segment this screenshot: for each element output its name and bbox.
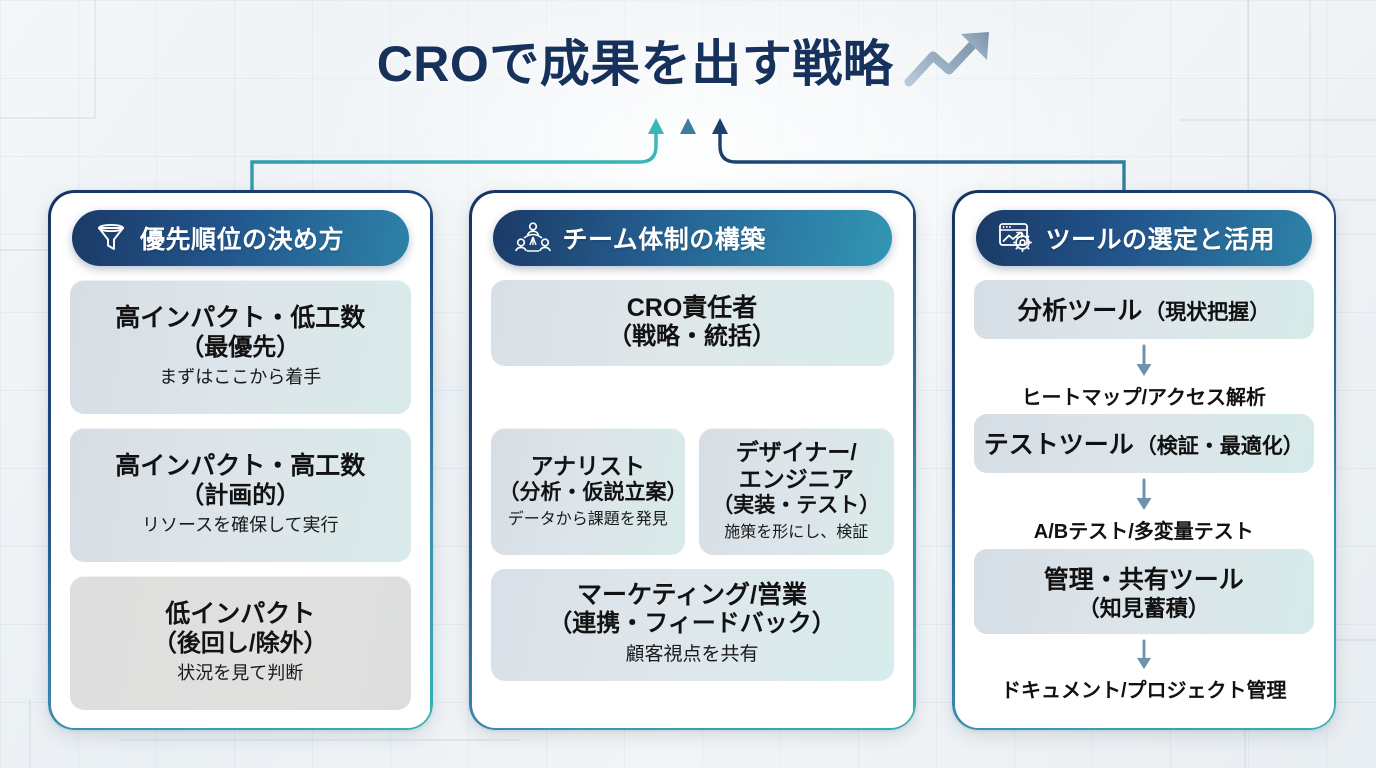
card-title: アナリスト bbox=[499, 453, 678, 480]
panel-tools: ツールの選定と活用 分析ツール （現状把握） bbox=[952, 190, 1337, 730]
card-testing-tool[interactable]: テストツール （検証・最適化） bbox=[974, 414, 1315, 473]
tool-detail: ヒートマップ/アクセス解析 bbox=[1021, 381, 1266, 410]
card-title: 高インパクト・高工数 bbox=[84, 452, 397, 482]
card-title: マーケティング/営業 bbox=[501, 581, 884, 611]
dashboard-gear-icon bbox=[998, 221, 1034, 255]
down-arrow-icon bbox=[1133, 478, 1155, 512]
tool-name: 分析ツール bbox=[1017, 291, 1142, 327]
panel-header-tools-label: ツールの選定と活用 bbox=[1046, 220, 1276, 256]
card-subtitle: （計画的） bbox=[84, 482, 397, 511]
card-note: 施策を形にし、検証 bbox=[707, 523, 886, 542]
panel-priority: 優先順位の決め方 高インパクト・低工数 （最優先） まずはここから着手 高インパ… bbox=[48, 190, 433, 730]
card-priority-high-impact-low-effort[interactable]: 高インパクト・低工数 （最優先） まずはここから着手 bbox=[70, 280, 411, 414]
card-note: まずはここから着手 bbox=[84, 367, 397, 389]
panel-header-priority-label: 優先順位の決め方 bbox=[140, 220, 344, 256]
card-title: CRO責任者 bbox=[505, 294, 880, 324]
tool-detail: ドキュメント/プロジェクト管理 bbox=[1001, 674, 1287, 703]
card-note: データから課題を発見 bbox=[499, 510, 678, 529]
down-arrow-icon bbox=[1133, 344, 1155, 378]
page-title: CROで成果を出す戦略 bbox=[0, 24, 1376, 96]
card-subtitle: （戦略・統括） bbox=[505, 323, 880, 352]
page-title-text: CROで成果を出す戦略 bbox=[377, 24, 894, 96]
card-title: 低インパクト bbox=[84, 600, 397, 630]
tool-paren: （現状把握） bbox=[1144, 296, 1270, 326]
funnel-icon bbox=[94, 221, 128, 255]
card-analytics-tool[interactable]: 分析ツール （現状把握） bbox=[974, 280, 1315, 339]
tool-paren: （知見蓄積） bbox=[984, 596, 1305, 623]
panel-header-tools: ツールの選定と活用 bbox=[976, 210, 1313, 266]
card-cro-lead[interactable]: CRO責任者 （戦略・統括） bbox=[491, 280, 894, 366]
tool-detail: A/Bテスト/多変量テスト bbox=[1034, 515, 1254, 544]
panel-team: チーム体制の構築 CRO責任者 （戦略・統括） アナリスト （分析・仮説立案） … bbox=[469, 190, 916, 730]
card-note: 状況を見て判断 bbox=[84, 663, 397, 685]
card-note: リソースを確保して実行 bbox=[84, 515, 397, 537]
card-subtitle: （分析・仮説立案） bbox=[499, 480, 678, 505]
panel-header-team-label: チーム体制の構築 bbox=[563, 220, 766, 256]
tool-name: 管理・共有ツール bbox=[1044, 566, 1244, 594]
team-network-icon bbox=[515, 221, 551, 255]
card-priority-low-impact[interactable]: 低インパクト （後回し/除外） 状況を見て判断 bbox=[70, 576, 411, 710]
card-note: 顧客視点を共有 bbox=[501, 644, 884, 667]
tool-name: テストツール bbox=[984, 425, 1134, 461]
card-title-second-line: エンジニア bbox=[707, 466, 886, 493]
card-analyst[interactable]: アナリスト （分析・仮説立案） データから課題を発見 bbox=[491, 428, 686, 555]
card-subtitle: （実装・テスト） bbox=[707, 493, 886, 518]
card-priority-high-impact-high-effort[interactable]: 高インパクト・高工数 （計画的） リソースを確保して実行 bbox=[70, 428, 411, 562]
card-title: デザイナー/ bbox=[707, 439, 886, 466]
card-designer-engineer[interactable]: デザイナー/ エンジニア （実装・テスト） 施策を形にし、検証 bbox=[699, 428, 894, 555]
card-subtitle: （後回し/除外） bbox=[84, 630, 397, 659]
card-title: 高インパクト・低工数 bbox=[84, 304, 397, 334]
card-management-sharing-tool[interactable]: 管理・共有ツール （知見蓄積） bbox=[974, 549, 1315, 635]
card-marketing-sales[interactable]: マーケティング/営業 （連携・フィードバック） 顧客視点を共有 bbox=[491, 569, 894, 681]
tool-paren: （検証・最適化） bbox=[1136, 430, 1304, 460]
trend-up-arrow-icon bbox=[903, 28, 999, 92]
panel-header-team: チーム体制の構築 bbox=[493, 210, 892, 266]
panel-header-priority: 優先順位の決め方 bbox=[72, 210, 409, 266]
card-subtitle: （最優先） bbox=[84, 334, 397, 363]
card-subtitle: （連携・フィードバック） bbox=[501, 610, 884, 639]
down-arrow-icon bbox=[1133, 639, 1155, 671]
